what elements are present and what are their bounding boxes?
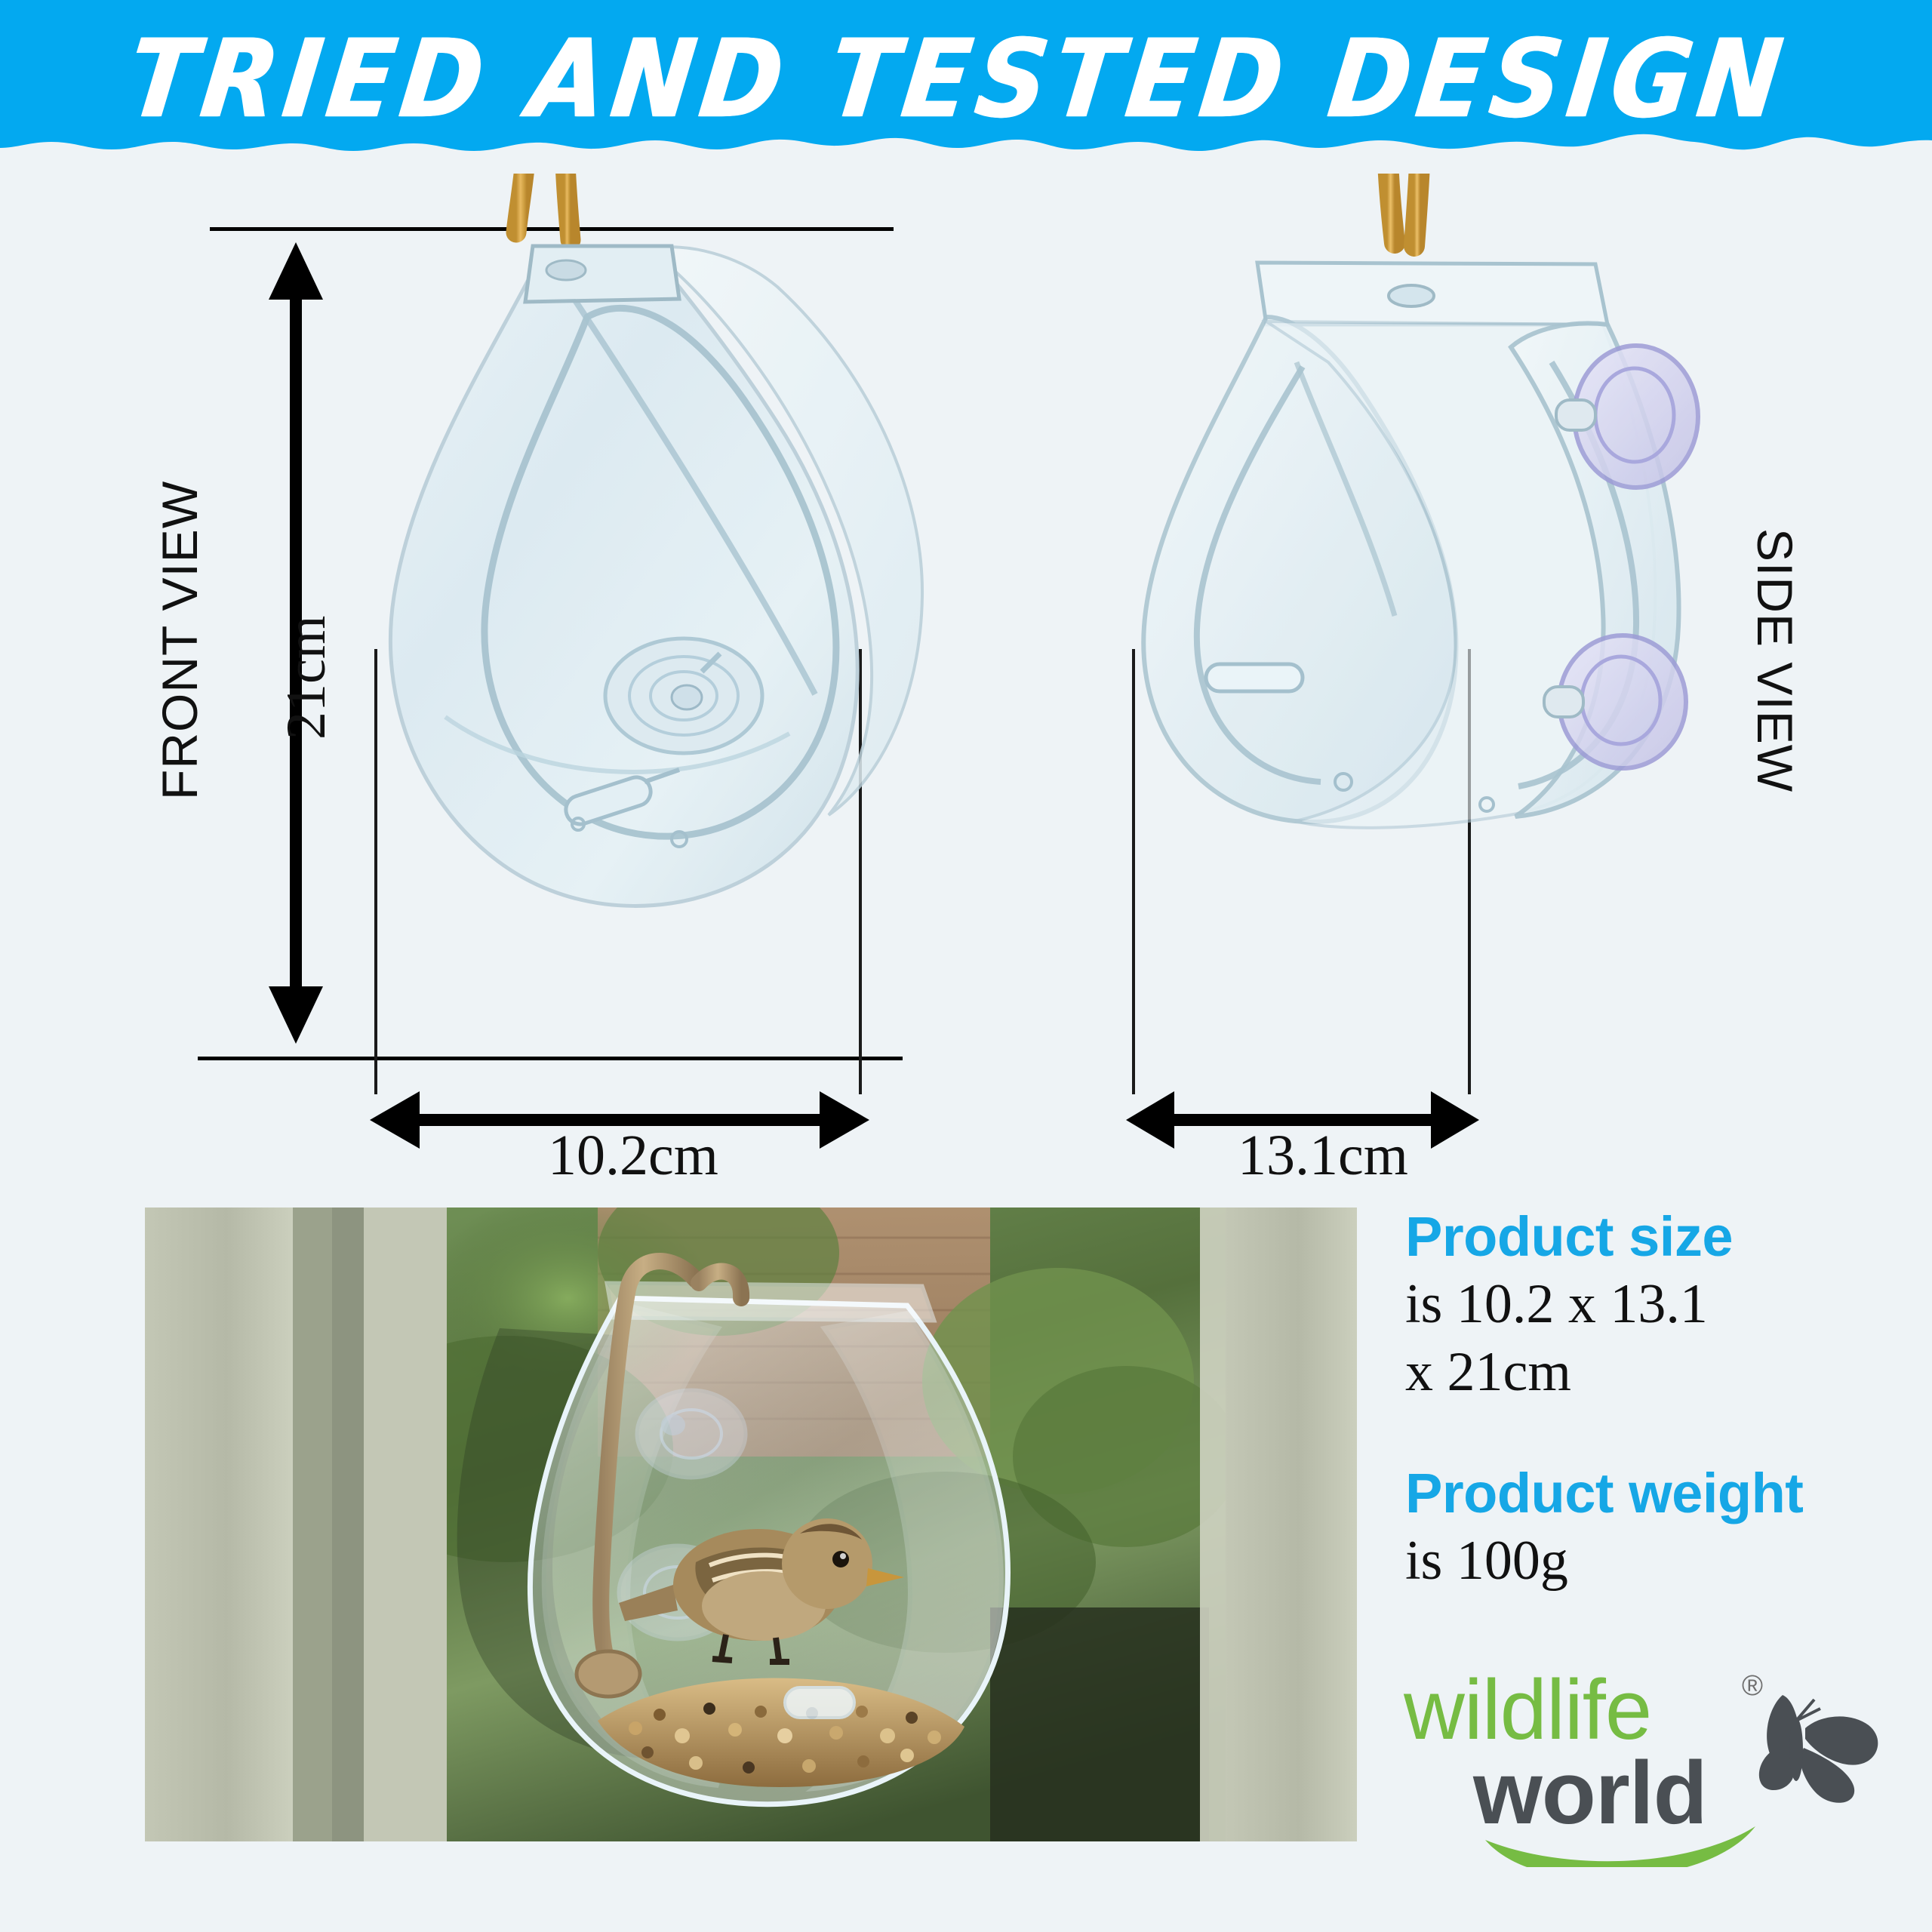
side-view-depth-label: 13.1cm xyxy=(1238,1123,1408,1189)
product-weight-line-1: is 100g xyxy=(1405,1527,1903,1594)
side-view-feeder-illustration xyxy=(1079,174,1713,1072)
logo-registered-mark: ® xyxy=(1742,1670,1763,1702)
window-frame-left xyxy=(145,1207,293,1841)
side-view-label: SIDE VIEW xyxy=(1746,528,1804,792)
wildlife-world-logo: wildlife ® world xyxy=(1401,1656,1899,1867)
infographic-page: TRIED AND TESTED DESIGN FRONT VIEW 21cm … xyxy=(0,0,1932,1932)
window-frame-left-inner xyxy=(364,1207,447,1841)
hanging-rope-front xyxy=(516,174,571,240)
glazing-bar-right xyxy=(1200,1207,1226,1841)
photo-rope-knot xyxy=(577,1651,640,1697)
front-view-width-label: 10.2cm xyxy=(548,1123,718,1189)
product-size-line-1: is 10.2 x 13.1 xyxy=(1405,1271,1903,1337)
front-feeder-rope-hole xyxy=(546,260,586,280)
info-spacer xyxy=(1405,1405,1903,1461)
photo-suction-cup-upper xyxy=(637,1390,746,1478)
product-weight-heading: Product weight xyxy=(1405,1461,1903,1526)
window-frame-left-bead xyxy=(293,1207,332,1841)
window-frame-left-shadow xyxy=(332,1207,364,1841)
window-frame-right xyxy=(1226,1207,1357,1841)
hanging-rope-side xyxy=(1387,174,1420,246)
banner-title: TRIED AND TESTED DESIGN xyxy=(0,17,1932,143)
product-size-heading: Product size xyxy=(1405,1204,1903,1269)
header-banner: TRIED AND TESTED DESIGN xyxy=(0,0,1932,175)
product-info-block: Product size is 10.2 x 13.1 x 21cm Produ… xyxy=(1405,1204,1903,1594)
photo-feeder-hanger-plate xyxy=(607,1283,934,1321)
perch-peg-side xyxy=(1206,664,1303,691)
front-view-label: FRONT VIEW xyxy=(151,481,208,800)
lifestyle-photo xyxy=(145,1207,1357,1841)
dark-doorway xyxy=(990,1607,1209,1841)
butterfly-icon xyxy=(1759,1695,1878,1803)
suction-cup-front xyxy=(605,638,762,753)
side-feeder-rope-hole xyxy=(1389,285,1434,306)
photo-perch-peg xyxy=(785,1687,854,1718)
logo-word-world: world xyxy=(1472,1743,1707,1843)
product-size-line-2: x 21cm xyxy=(1405,1339,1903,1405)
front-view-feeder-illustration xyxy=(325,174,958,1072)
